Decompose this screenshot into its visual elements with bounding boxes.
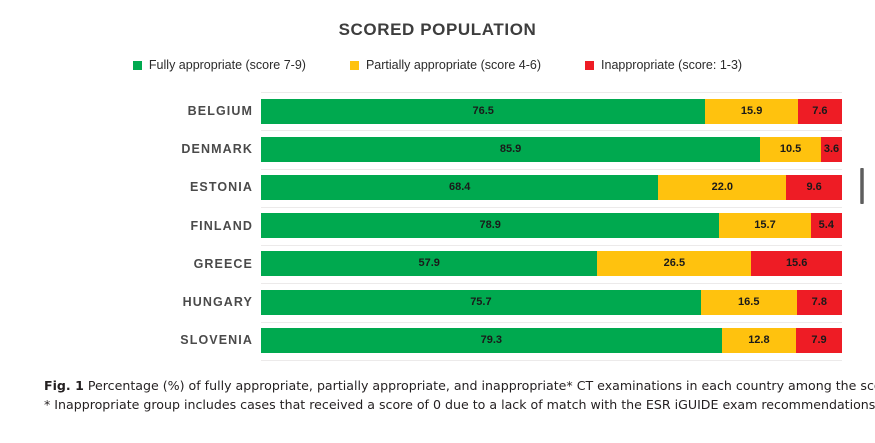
legend-swatch-yellow [350,61,359,70]
segment-fully-appropriate[interactable]: 85.9 [261,137,760,162]
segment-inappropriate[interactable]: 7.9 [796,328,842,353]
legend-label-1: Fully appropriate (score 7-9) [149,58,306,72]
legend-item-2[interactable]: Partially appropriate (score 4-6) [350,58,541,72]
segment-fully-appropriate[interactable]: 68.4 [261,175,658,200]
bar-row-finland[interactable]: 78.915.75.4 [261,207,842,245]
segment-value-label: 68.4 [449,182,470,193]
category-axis: BELGIUMDENMARKESTONIAFINLANDGREECEHUNGAR… [120,92,253,360]
segment-value-label: 7.9 [811,335,826,346]
bar-row-slovenia[interactable]: 79.312.87.9 [261,321,842,359]
figure-panel: SCORED POPULATION Fully appropriate (sco… [0,0,875,370]
segment-inappropriate[interactable]: 7.8 [797,290,842,315]
segment-fully-appropriate[interactable]: 57.9 [261,251,597,276]
segment-inappropriate[interactable]: 3.6 [821,137,842,162]
category-label-hungary: HUNGARY [183,295,253,309]
bar-row-denmark[interactable]: 85.910.53.6 [261,130,842,168]
segment-value-label: 12.8 [748,335,769,346]
chart-title: SCORED POPULATION [0,20,875,40]
segment-partially-appropriate[interactable]: 26.5 [597,251,751,276]
category-row-1: BELGIUM [120,92,253,130]
caption-line-2: * Inappropriate group includes cases tha… [44,395,875,414]
segment-value-label: 57.9 [418,258,439,269]
caption-line-1: Fig. 1 Percentage (%) of fully appropria… [44,376,875,395]
caption-text-1: Percentage (%) of fully appropriate, par… [88,378,875,393]
segment-value-label: 76.5 [473,106,494,117]
bar-rows: 76.515.97.685.910.53.668.422.09.678.915.… [261,92,842,360]
bar-row-estonia[interactable]: 68.422.09.6 [261,168,842,206]
scroll-position-marker[interactable] [860,168,864,204]
segment-value-label: 7.6 [812,106,827,117]
segment-partially-appropriate[interactable]: 22.0 [658,175,786,200]
segment-inappropriate[interactable]: 5.4 [811,213,842,238]
bar-track: 76.515.97.6 [261,99,842,124]
segment-value-label: 9.6 [806,182,821,193]
segment-value-label: 85.9 [500,144,521,155]
segment-value-label: 3.6 [824,144,839,155]
category-label-belgium: BELGIUM [188,104,253,118]
category-label-greece: GREECE [194,257,253,271]
category-row-6: HUNGARY [120,283,253,321]
bar-track: 75.716.57.8 [261,290,842,315]
bar-track: 78.915.75.4 [261,213,842,238]
segment-value-label: 15.6 [786,258,807,269]
chart-legend: Fully appropriate (score 7-9)Partially a… [0,58,875,72]
category-label-estonia: ESTONIA [190,180,253,194]
gridline-7 [261,360,842,361]
segment-value-label: 15.9 [741,106,762,117]
bar-track: 68.422.09.6 [261,175,842,200]
legend-item-3[interactable]: Inappropriate (score: 1-3) [585,58,742,72]
segment-value-label: 26.5 [664,258,685,269]
category-row-5: GREECE [120,245,253,283]
bar-row-belgium[interactable]: 76.515.97.6 [261,92,842,130]
segment-value-label: 75.7 [470,297,491,308]
category-label-slovenia: SLOVENIA [180,333,253,347]
segment-value-label: 5.4 [819,220,834,231]
category-row-7: SLOVENIA [120,321,253,359]
segment-partially-appropriate[interactable]: 10.5 [760,137,821,162]
segment-fully-appropriate[interactable]: 76.5 [261,99,705,124]
figure-caption: Fig. 1 Percentage (%) of fully appropria… [44,376,875,414]
segment-value-label: 7.8 [812,297,827,308]
segment-partially-appropriate[interactable]: 15.9 [705,99,797,124]
segment-partially-appropriate[interactable]: 15.7 [719,213,810,238]
category-row-3: ESTONIA [120,168,253,206]
segment-fully-appropriate[interactable]: 75.7 [261,290,701,315]
legend-swatch-green [133,61,142,70]
segment-value-label: 10.5 [780,144,801,155]
plot-area: 76.515.97.685.910.53.668.422.09.678.915.… [261,92,842,360]
segment-value-label: 79.3 [481,335,502,346]
legend-label-2: Partially appropriate (score 4-6) [366,58,541,72]
segment-inappropriate[interactable]: 7.6 [798,99,842,124]
legend-item-1[interactable]: Fully appropriate (score 7-9) [133,58,306,72]
segment-fully-appropriate[interactable]: 79.3 [261,328,722,353]
segment-partially-appropriate[interactable]: 16.5 [701,290,797,315]
segment-value-label: 15.7 [754,220,775,231]
segment-fully-appropriate[interactable]: 78.9 [261,213,719,238]
segment-inappropriate[interactable]: 9.6 [786,175,842,200]
segment-partially-appropriate[interactable]: 12.8 [722,328,796,353]
figure-page: SCORED POPULATION Fully appropriate (sco… [0,0,875,443]
bar-track: 79.312.87.9 [261,328,842,353]
legend-swatch-red [585,61,594,70]
category-row-2: DENMARK [120,130,253,168]
segment-value-label: 78.9 [479,220,500,231]
bar-track: 85.910.53.6 [261,137,842,162]
category-label-finland: FINLAND [190,219,253,233]
figure-number: Fig. 1 [44,378,84,393]
bar-row-hungary[interactable]: 75.716.57.8 [261,283,842,321]
segment-value-label: 22.0 [712,182,733,193]
legend-label-3: Inappropriate (score: 1-3) [601,58,742,72]
bar-track: 57.926.515.6 [261,251,842,276]
category-label-denmark: DENMARK [181,142,253,156]
segment-value-label: 16.5 [738,297,759,308]
segment-inappropriate[interactable]: 15.6 [751,251,842,276]
category-row-4: FINLAND [120,207,253,245]
bar-row-greece[interactable]: 57.926.515.6 [261,245,842,283]
